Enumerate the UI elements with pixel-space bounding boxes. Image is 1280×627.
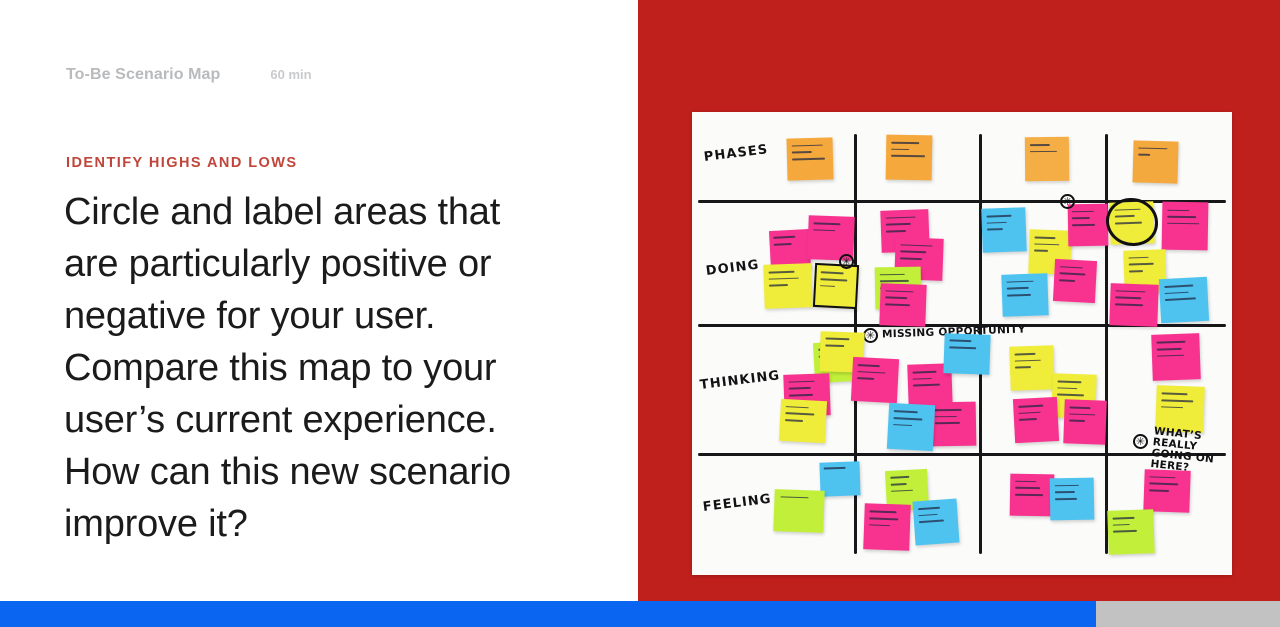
sticky-note [1050, 478, 1095, 521]
right-image-panel: PHASES DOING THINKING FEELING [638, 0, 1280, 601]
sticky-note [879, 283, 926, 327]
highlight-circle-icon [1106, 198, 1158, 246]
sticky-note-highlighted [813, 263, 859, 309]
whiteboard-photo: PHASES DOING THINKING FEELING [692, 112, 1232, 575]
sticky-note [1010, 474, 1055, 517]
slide-header: To-Be Scenario Map 60 min [66, 66, 312, 84]
progress-bar-fill [0, 601, 1096, 627]
sticky-note [851, 357, 899, 403]
sticky-note [1159, 277, 1209, 323]
sticky-note [763, 263, 813, 309]
phase-note-check-in-airport [886, 135, 933, 181]
star-marker-icon: ✳ [1060, 194, 1075, 209]
sticky-note [1107, 509, 1155, 555]
row-label-thinking: THINKING [699, 368, 781, 393]
progress-bar-track[interactable] [0, 601, 1280, 627]
star-marker-icon: ✳ [863, 328, 878, 343]
star-marker-icon: ✳ [839, 254, 854, 269]
sticky-note [1109, 283, 1158, 327]
row-label-doing: DOING [705, 258, 760, 279]
sticky-note [779, 399, 827, 443]
annotation-text: WHAT’S REALLY GOING ON HERE? [1150, 425, 1215, 474]
instruction-headline: Circle and label areas that are particul… [64, 186, 534, 550]
sticky-note [981, 207, 1027, 253]
sticky-note [1162, 202, 1209, 251]
section-eyebrow-label: IDENTIFY HIGHS AND LOWS [66, 155, 298, 171]
sticky-note [1001, 273, 1048, 317]
row-label-phases: PHASES [703, 142, 769, 165]
phase-note-flight [1132, 140, 1178, 183]
sticky-note [1143, 469, 1190, 513]
sticky-note [913, 499, 960, 546]
activity-title: To-Be Scenario Map [66, 66, 220, 84]
sticky-note [930, 402, 977, 447]
slide-canvas: To-Be Scenario Map 60 min IDENTIFY HIGHS… [0, 0, 1280, 627]
row-label-feeling: FEELING [702, 492, 772, 515]
scenario-map-board: PHASES DOING THINKING FEELING [692, 112, 1232, 575]
sticky-note [1068, 204, 1109, 247]
sticky-note [773, 489, 824, 533]
sticky-note [1151, 333, 1201, 381]
sticky-note [943, 333, 990, 375]
star-marker-icon: ✳ [1133, 434, 1148, 449]
activity-duration-label: 60 min [270, 67, 311, 82]
phase-note-pre-flight [1025, 137, 1069, 181]
sticky-note [1013, 397, 1059, 443]
sticky-note [1009, 345, 1055, 391]
grid-hline-thinking [698, 453, 1226, 456]
grid-vline-3 [1105, 134, 1108, 554]
sticky-note [863, 503, 911, 551]
phase-note-travel-to-airport [786, 137, 833, 180]
sticky-note [819, 461, 860, 496]
sticky-note [1053, 259, 1097, 303]
sticky-note [1063, 399, 1107, 444]
sticky-note [887, 403, 935, 451]
left-content-panel: To-Be Scenario Map 60 min IDENTIFY HIGHS… [0, 0, 638, 601]
